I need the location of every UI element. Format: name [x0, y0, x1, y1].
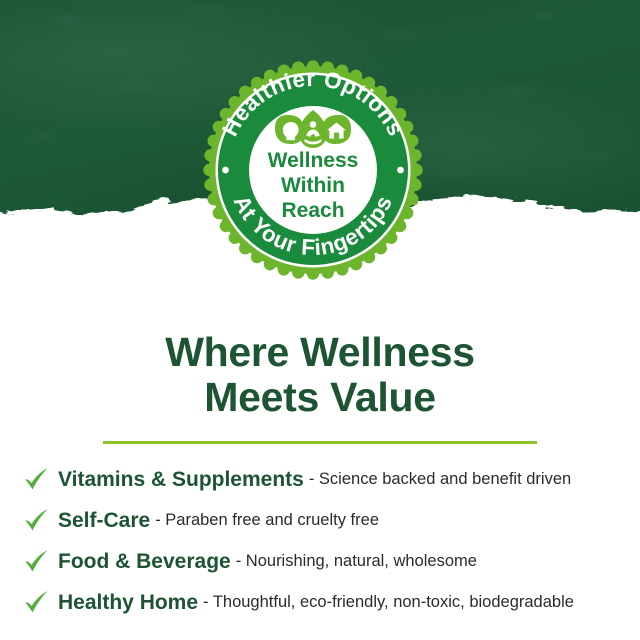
- leaf-house-icon: [322, 115, 351, 144]
- wellness-within-reach-badge: Healthier Options At Your Fingertips: [203, 60, 423, 280]
- list-item: Self-Care- Paraben free and cruelty free: [22, 500, 630, 541]
- list-item: Healthy Home- Thoughtful, eco-friendly, …: [22, 582, 630, 623]
- list-item-description: - Thoughtful, eco-friendly, non-toxic, b…: [203, 593, 574, 612]
- check-icon: [22, 587, 52, 617]
- list-item-description: - Science backed and benefit driven: [309, 470, 571, 489]
- check-icon: [22, 546, 52, 576]
- badge-dot-right: [397, 167, 404, 174]
- list-item-title: Vitamins & Supplements: [58, 468, 304, 492]
- list-item-title: Healthy Home: [58, 591, 198, 615]
- list-item-title: Self-Care: [58, 509, 150, 533]
- list-item-title: Food & Beverage: [58, 550, 231, 574]
- badge-dot-left: [222, 167, 229, 174]
- accent-divider: [103, 441, 537, 444]
- list-item: Food & Beverage- Nourishing, natural, wh…: [22, 541, 630, 582]
- check-icon: [22, 505, 52, 535]
- check-icon: [22, 464, 52, 494]
- headline-line-1: Where Wellness: [0, 330, 640, 375]
- list-item: Vitamins & Supplements- Science backed a…: [22, 459, 630, 500]
- headline-line-2: Meets Value: [0, 375, 640, 420]
- badge-icon-row: [275, 110, 351, 148]
- list-item-description: - Nourishing, natural, wholesome: [236, 552, 477, 571]
- badge-inner-line-2: Within: [281, 174, 345, 197]
- badge-inner-line-1: Wellness: [268, 149, 359, 172]
- list-item-description: - Paraben free and cruelty free: [155, 511, 379, 530]
- wellness-promo-banner: Healthier Options At Your Fingertips: [0, 0, 640, 640]
- badge-inner-line-3: Reach: [281, 199, 344, 222]
- benefits-list: Vitamins & Supplements- Science backed a…: [22, 459, 630, 623]
- page-title: Where Wellness Meets Value: [0, 330, 640, 420]
